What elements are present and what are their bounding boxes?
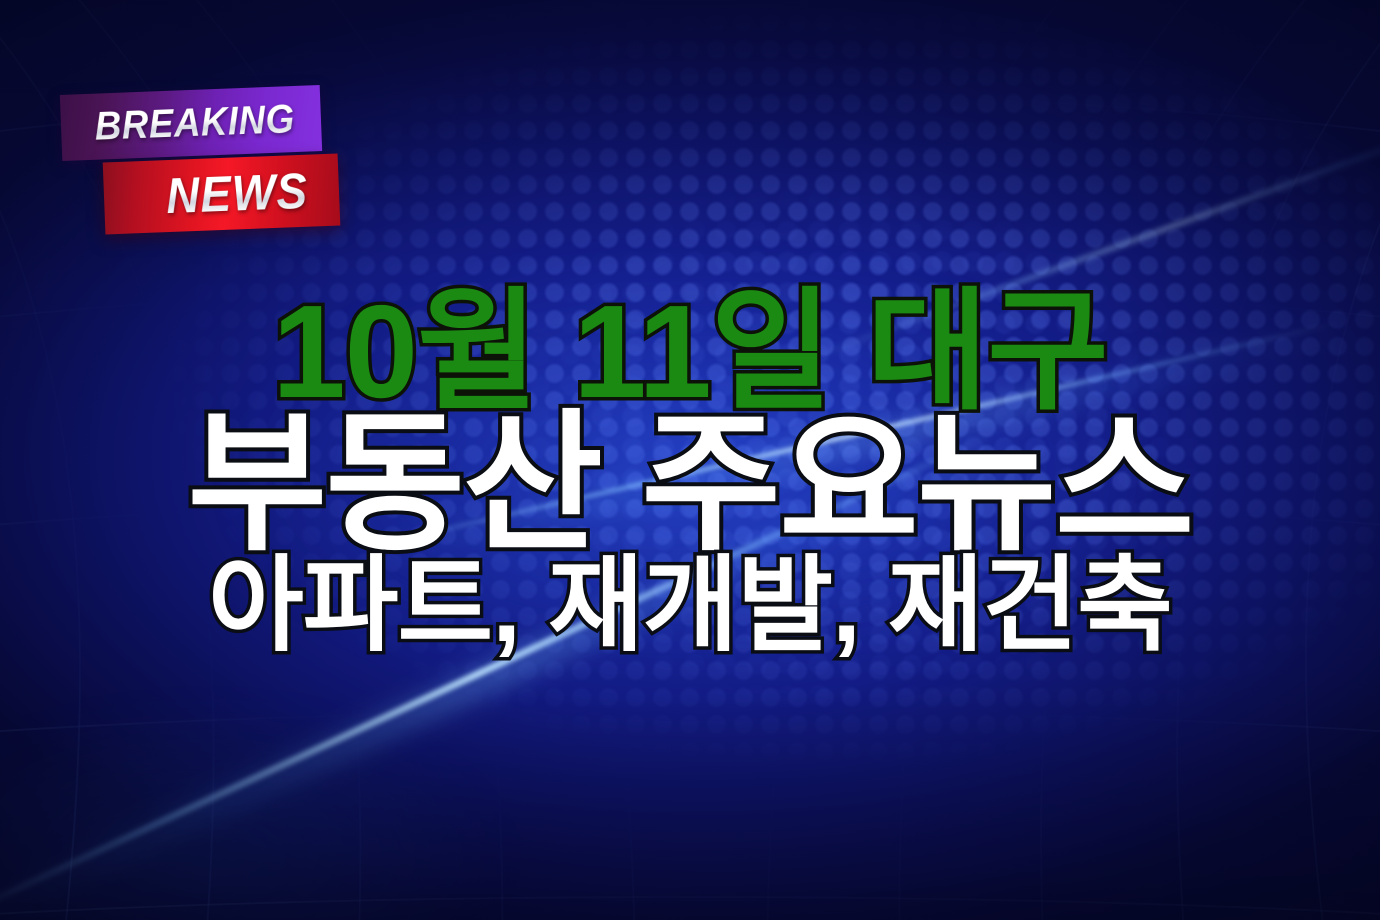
- banner-canvas: BREAKING NEWS 10월 11일 대구 부동산 주요뉴스 아파트, 재…: [0, 0, 1380, 920]
- badge-bar-news: NEWS: [103, 154, 341, 235]
- badge-label-breaking: BREAKING: [94, 97, 296, 150]
- badge-bar-breaking: BREAKING: [60, 85, 322, 161]
- breaking-news-badge: BREAKING NEWS: [58, 86, 358, 256]
- headline-block: 10월 11일 대구 부동산 주요뉴스 아파트, 재개발, 재건축: [0, 286, 1380, 658]
- headline-line-subtopics: 아파트, 재개발, 재건축: [0, 554, 1380, 658]
- headline-line-main-topic: 부동산 주요뉴스: [0, 408, 1380, 560]
- badge-label-news: NEWS: [165, 162, 309, 225]
